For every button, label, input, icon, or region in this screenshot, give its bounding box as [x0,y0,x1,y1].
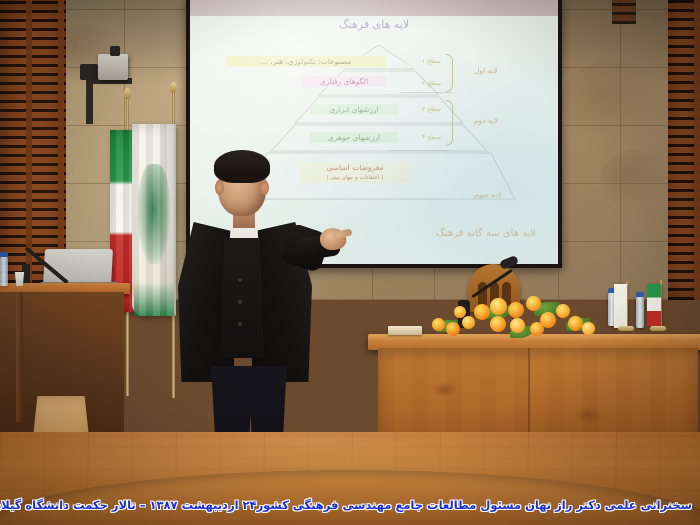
speaker-vest [220,238,264,358]
rose-9 [510,318,525,333]
rose-13 [582,322,595,335]
projector-mount-arm [86,80,93,124]
rose-5 [490,298,507,315]
rose-6 [508,302,524,318]
lecture-hall-photo: لایه های فرهنگ مصنوعات: تکنولوژی، هنر، .… [0,0,700,525]
vest-button-2 [238,300,242,304]
pyramid-label-5-sub: ( اعتقادات و جهان بینی ) [327,175,384,181]
rose-12 [568,316,583,331]
acoustic-panel-upper-right [612,0,636,24]
desk-flag-base-university [618,326,634,331]
pyramid-label-5: مفروضات اساسی ( اعتقادات و جهان بینی ) [300,162,410,183]
rose-11 [556,304,570,318]
brace-layer-1 [446,54,453,92]
vest-button-3 [238,322,242,326]
slide-title: لایه های فرهنگ [190,18,558,31]
caption-left-text: ۲۴ اردیبهشت ۱۳۸۷ – تالار حکمت دانشگاه گی… [0,498,257,512]
level-marker-1: سطح ۱ [422,58,441,65]
caption-right-text: سخنرانی علمی دکتر راز نهان مسئول مطالعات… [257,498,692,512]
projector-base-block [80,64,98,80]
water-bottle-side-table [0,256,8,286]
guide-line-2 [390,150,452,151]
level-marker-4: سطح ۴ [422,134,441,141]
book-on-desk [388,326,422,335]
guide-line-1 [400,92,452,93]
rose-3 [462,316,475,329]
desk-flag-base-iran [650,326,666,331]
speaker-hair [214,150,270,183]
speaker-ear-right [260,180,269,195]
university-emblem [138,164,170,264]
rose-8 [490,316,506,332]
rose-14 [454,306,466,318]
water-bottle-cap-side [0,252,8,257]
layer-label-1: لایه اول [474,66,498,75]
layer-label-2: لایه دوم [474,116,498,125]
pyramid-label-3: ارزشهای ابزاری [310,104,398,115]
level-marker-3: سطح ۳ [422,106,441,113]
caption-bar: سخنرانی علمی دکتر راز نهان مسئول مطالعات… [0,493,700,517]
flag-finial-university [170,82,177,93]
flower-bouquet [430,296,600,340]
desk-wood-knot-2 [574,406,604,424]
level-marker-2: سطح ۲ [422,80,441,87]
projector-lens [110,46,120,56]
slide-footer: لایه های سه گانه فرهنگ [436,228,536,239]
university-flag-stripe [134,282,174,316]
speaker-ear-left [215,180,224,195]
desk-flag-iran [647,284,661,326]
pyramid-label-5-main: مفروضات اساسی [327,163,384,172]
rose-1 [432,318,445,331]
brace-layer-2 [446,100,453,146]
desk-flag-university [614,284,627,328]
rose-2 [446,322,460,336]
pyramid-label-1: مصنوعات: تکنولوژی، هنر، ... [226,56,386,67]
water-bottle-desk-2 [636,296,644,328]
flag-finial-iran [124,88,131,99]
water-bottle-cap-desk-2 [636,292,644,297]
rose-7 [526,296,541,311]
screen-top-band [190,0,558,16]
side-table-leg [16,292,23,422]
projector-body [98,54,128,80]
pyramid-label-2: الگوهای رفتاری [302,76,386,87]
desk-wood-knot-1 [432,382,458,398]
vest-button-1 [238,278,242,282]
layer-label-3: لایه سوم [474,190,502,199]
rose-15 [530,322,544,336]
university-flag [132,124,176,316]
caption-left-group: ۲۴ اردیبهشت ۱۳۸۷ – تالار حکمت دانشگاه گی… [0,498,257,512]
pyramid-label-4: ارزشهای جوهری [310,132,398,143]
acoustic-panel-right [668,0,700,300]
rose-4 [474,304,490,320]
